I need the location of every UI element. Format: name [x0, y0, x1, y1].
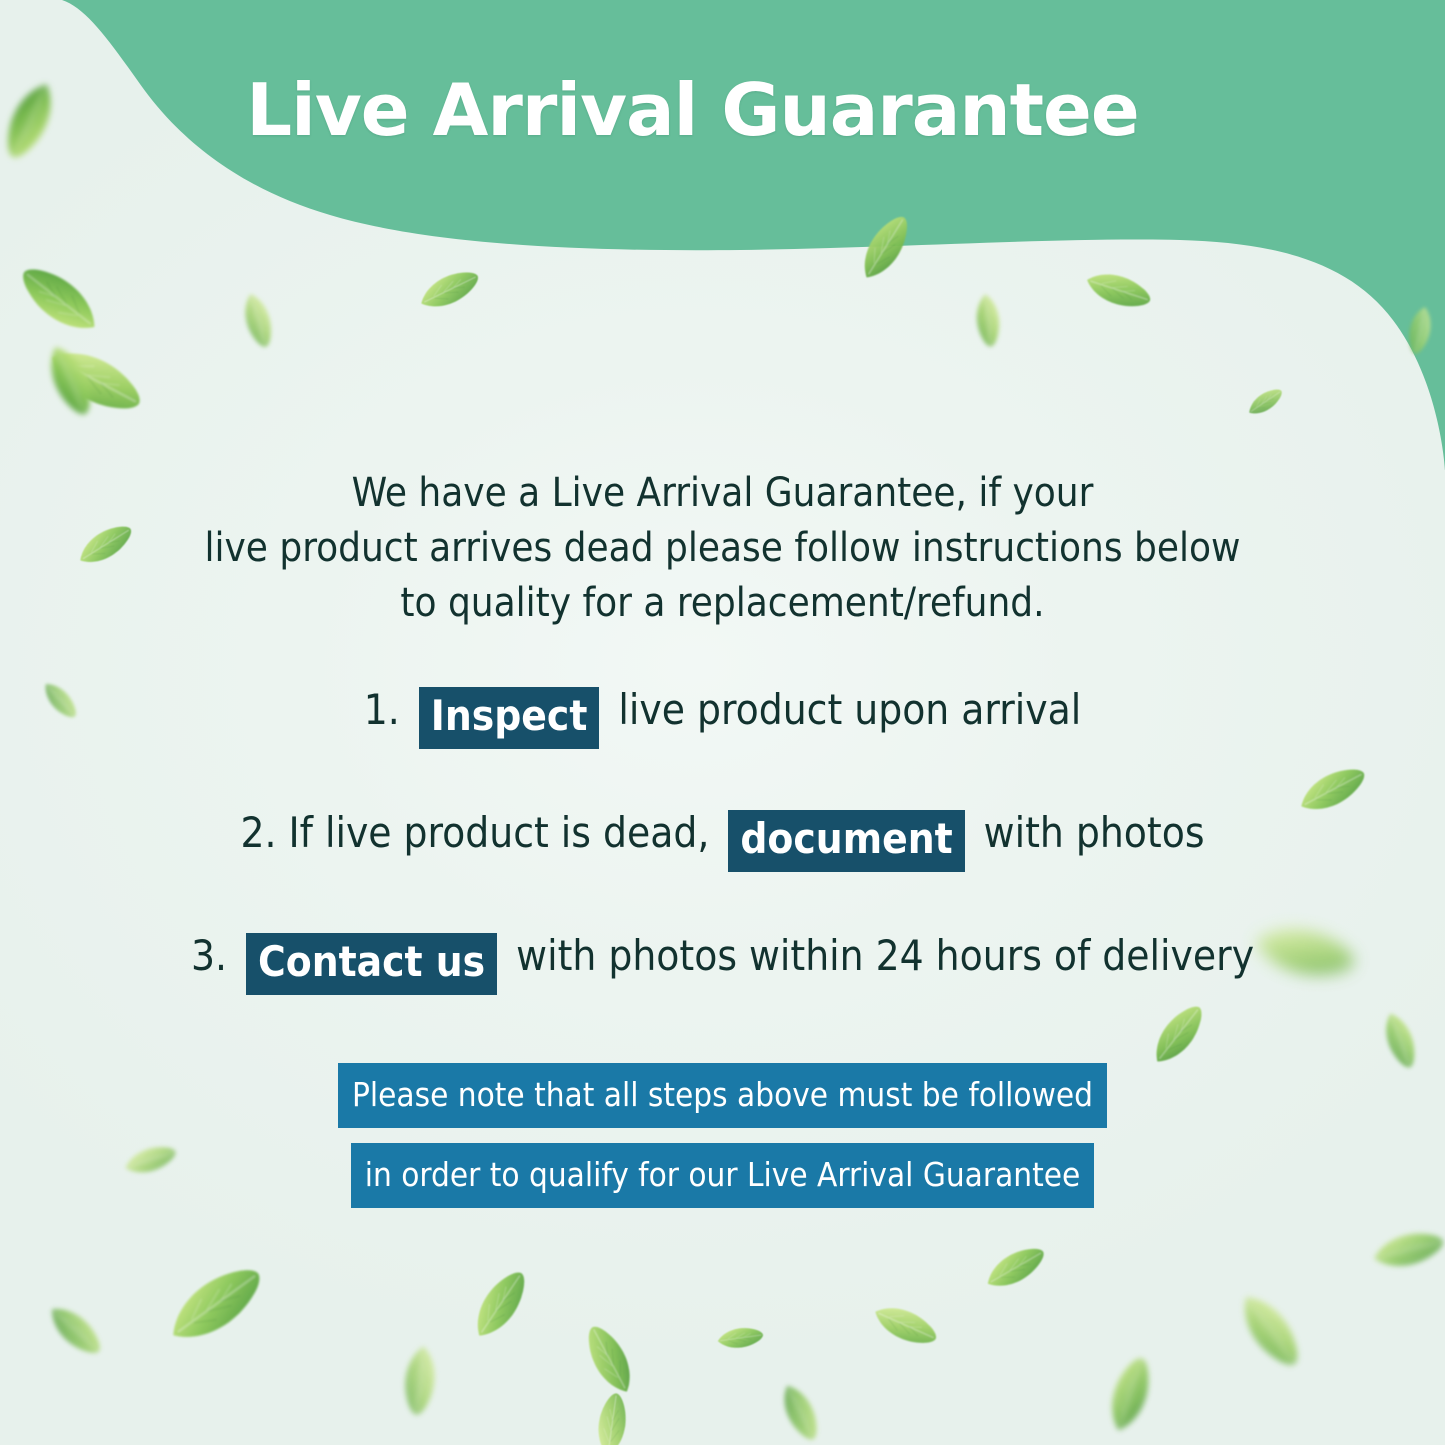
- step-item-2: 2. If live product is dead, document wit…: [0, 803, 1445, 866]
- step-text-1: live product upon arrival: [618, 685, 1081, 734]
- live-arrival-guarantee-poster: Live Arrival Guarantee: [0, 0, 1445, 1445]
- footer-note-row-1: Please note that all steps above must be…: [0, 1063, 1445, 1128]
- step-highlight-document[interactable]: document: [728, 810, 964, 872]
- step-item-1: 1. Inspect live product upon arrival: [0, 680, 1445, 743]
- footer-note-1: Please note that all steps above must be…: [338, 1063, 1107, 1128]
- step-number-2: 2.: [240, 808, 276, 857]
- intro-line-2: live product arrives dead please follow …: [0, 521, 1445, 576]
- step-text-2-before: If live product is dead,: [289, 808, 710, 857]
- intro-line-3: to quality for a replacement/refund.: [0, 576, 1445, 631]
- footer-note-row-2: in order to qualify for our Live Arrival…: [0, 1143, 1445, 1208]
- intro-paragraph: We have a Live Arrival Guarantee, if you…: [0, 466, 1445, 631]
- footer-notes: Please note that all steps above must be…: [0, 1063, 1445, 1208]
- step-highlight-inspect[interactable]: Inspect: [419, 687, 600, 749]
- steps-list: 1. Inspect live product upon arrival 2. …: [0, 680, 1445, 1049]
- footer-note-2: in order to qualify for our Live Arrival…: [351, 1143, 1095, 1208]
- step-number-1: 1.: [364, 685, 400, 734]
- step-text-2-after: with photos: [984, 808, 1205, 857]
- step-item-3: 3. Contact us with photos within 24 hour…: [0, 926, 1445, 989]
- step-text-3: with photos within 24 hours of delivery: [516, 931, 1254, 980]
- step-number-3: 3.: [191, 931, 227, 980]
- intro-line-1: We have a Live Arrival Guarantee, if you…: [0, 466, 1445, 521]
- step-highlight-contact-us[interactable]: Contact us: [246, 933, 497, 995]
- poster-content: We have a Live Arrival Guarantee, if you…: [0, 0, 1445, 1445]
